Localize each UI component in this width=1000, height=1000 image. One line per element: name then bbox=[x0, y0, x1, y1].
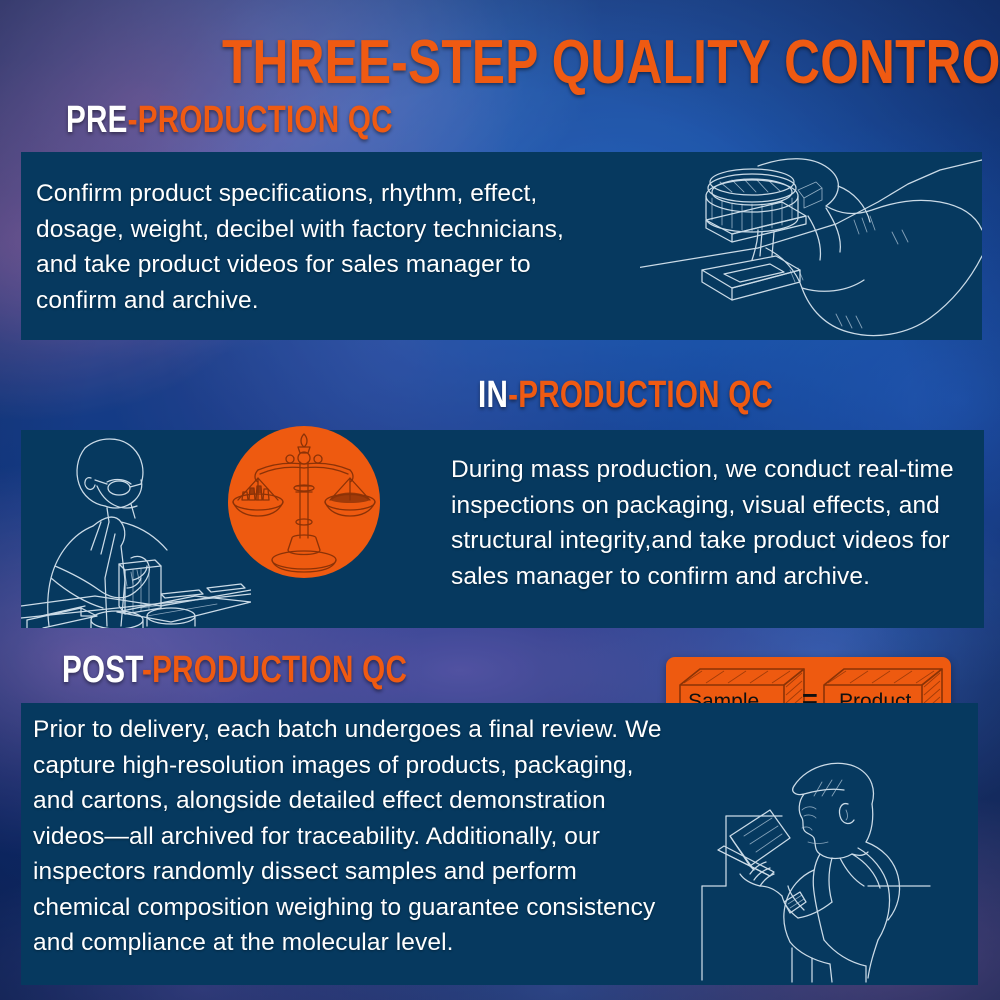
heading-white-part: IN bbox=[478, 374, 508, 416]
heading-orange-part: -PRODUCTION QC bbox=[142, 649, 407, 691]
heading-white-part: POST bbox=[62, 649, 142, 691]
page-title-text: THREE-STEP QUALITY CONTROL bbox=[222, 28, 1000, 97]
inspector-with-clipboard-icon bbox=[672, 752, 978, 985]
section-heading-post-production: POST-PRODUCTION QC bbox=[62, 651, 407, 689]
section-heading-pre-production: PRE-PRODUCTION QC bbox=[66, 101, 393, 139]
heading-orange-part: -PRODUCTION QC bbox=[508, 374, 773, 416]
page-title: THREE-STEP QUALITY CONTROL bbox=[222, 32, 1000, 94]
balance-scale-icon bbox=[228, 426, 380, 578]
infographic-canvas: THREE-STEP QUALITY CONTROL PRE-PRODUCTIO… bbox=[0, 0, 1000, 1000]
hand-holding-component-icon bbox=[640, 152, 982, 340]
heading-orange-part: -PRODUCTION QC bbox=[128, 99, 393, 141]
section-heading-in-production: IN-PRODUCTION QC bbox=[478, 376, 773, 414]
section-body-post-production: Prior to delivery, each batch undergoes … bbox=[33, 712, 663, 961]
heading-white-part: PRE bbox=[66, 99, 128, 141]
worker-inspecting-product-icon bbox=[21, 430, 251, 628]
section-body-pre-production: Confirm product specifications, rhythm, … bbox=[36, 176, 596, 318]
section-body-in-production: During mass production, we conduct real-… bbox=[451, 452, 981, 594]
